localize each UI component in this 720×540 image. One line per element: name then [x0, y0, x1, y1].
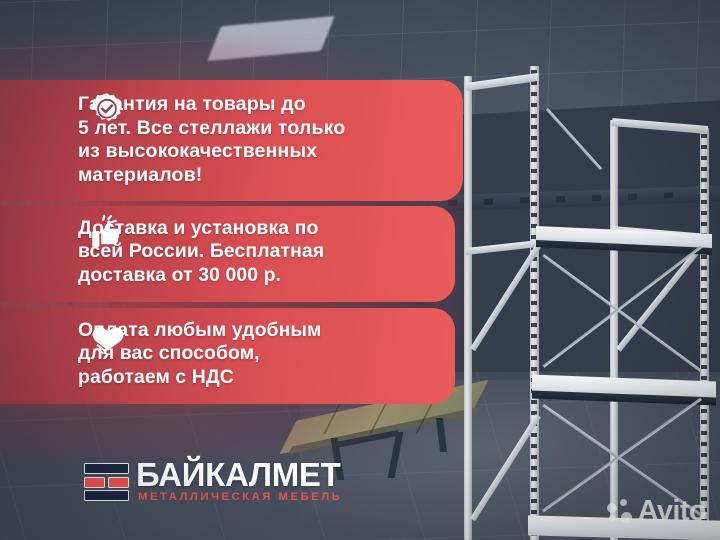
rack-upright-perforation	[701, 134, 707, 538]
feature-card-delivery: Доставка и установка по всей России. Бес…	[0, 206, 455, 302]
rack-diagonal-brace	[616, 238, 709, 352]
logo-bar-bottom	[84, 490, 129, 501]
promo-banner: Гарантия на товары до 5 лет. Все стеллаж…	[0, 0, 720, 540]
avito-label: Avito	[638, 497, 706, 526]
thumbs-up-icon	[90, 215, 126, 251]
handshake-icon	[88, 322, 128, 360]
logo-tagline: МЕТАЛЛИЧЕСКАЯ МЕБЕЛЬ	[138, 491, 342, 504]
metal-shelving-rack	[452, 48, 720, 540]
feature-card-payment: Оплата любым удобным для вас способом, р…	[0, 308, 455, 404]
logo-wordmark: БАЙКАЛМЕТ	[136, 458, 341, 492]
baikalmet-logo[interactable]: БАЙКАЛМЕТ МЕТАЛЛИЧЕСКАЯ МЕБЕЛЬ	[84, 458, 362, 508]
avito-dots-icon	[607, 499, 633, 525]
rack-beam	[466, 240, 539, 255]
rack-wire-brace	[546, 108, 602, 170]
rack-upright	[464, 76, 472, 540]
rack-top-beam	[612, 118, 709, 134]
rack-upright	[610, 120, 618, 540]
logo-bar-top	[84, 463, 129, 474]
baikalmet-bars-icon	[84, 463, 129, 501]
avito-watermark: Avito	[607, 497, 706, 526]
feature-card-guarantee: Гарантия на товары до 5 лет. Все стеллаж…	[0, 80, 463, 201]
verified-badge-icon	[90, 92, 124, 126]
rack-top-beam	[466, 73, 539, 91]
rack-upright-perforation	[531, 70, 537, 538]
logo-bar-mid-left	[84, 477, 105, 488]
logo-bar-mid-right	[108, 477, 129, 488]
